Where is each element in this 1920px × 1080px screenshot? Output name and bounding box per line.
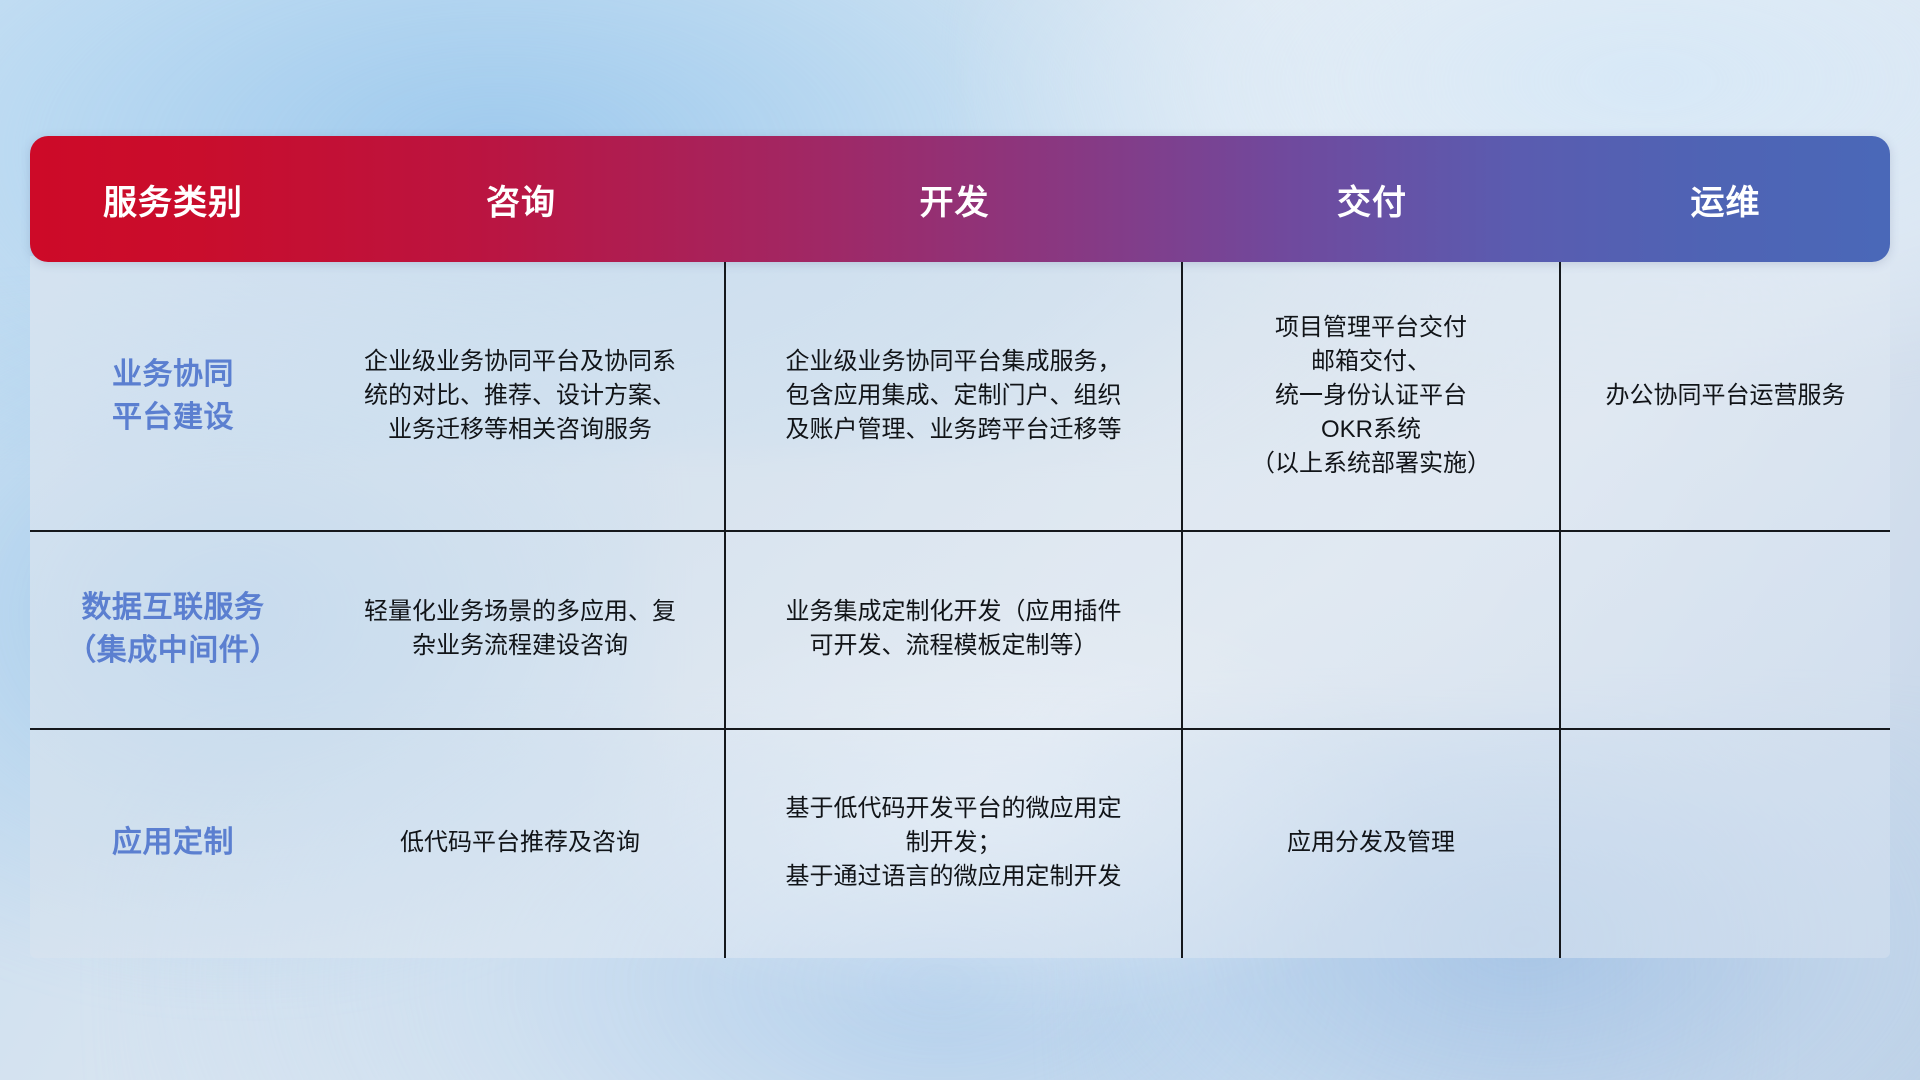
table-row: 业务协同 平台建设 企业级业务协同平台及协同系 统的对比、推荐、设计方案、 业务… [30, 262, 1890, 530]
cell-r3-consulting: 低代码平台推荐及咨询 [316, 728, 726, 958]
column-header-consulting: 咨询 [316, 175, 726, 224]
row-label-app-customization: 应用定制 [30, 728, 316, 958]
cell-r2-operations [1561, 530, 1890, 728]
cell-r1-operations: 办公协同平台运营服务 [1561, 262, 1890, 530]
cell-r1-consulting: 企业级业务协同平台及协同系 统的对比、推荐、设计方案、 业务迁移等相关咨询服务 [316, 262, 726, 530]
cell-r3-operations [1561, 728, 1890, 958]
cell-text: 企业级业务协同平台集成服务， 包含应用集成、定制门户、组织 及账户管理、业务跨平… [786, 345, 1122, 447]
table-header-row: 服务类别 咨询 开发 交付 运维 [30, 136, 1890, 262]
row-label-text: 应用定制 [112, 821, 234, 865]
column-header-development: 开发 [726, 175, 1183, 224]
cell-r2-consulting: 轻量化业务场景的多应用、复 杂业务流程建设咨询 [316, 530, 726, 728]
table-body: 业务协同 平台建设 企业级业务协同平台及协同系 统的对比、推荐、设计方案、 业务… [30, 262, 1890, 958]
table-row: 数据互联服务 （集成中间件） 轻量化业务场景的多应用、复 杂业务流程建设咨询 业… [30, 530, 1890, 728]
cell-text: 业务集成定制化开发（应用插件 可开发、流程模板定制等） [786, 595, 1122, 663]
row-label-text: 数据互联服务 （集成中间件） [66, 586, 280, 673]
row-label-data-interconnect: 数据互联服务 （集成中间件） [30, 530, 316, 728]
service-matrix-table: 服务类别 咨询 开发 交付 运维 业务协同 平台建设 企业级业务协同平台及协同系… [30, 136, 1890, 958]
cell-r3-delivery: 应用分发及管理 [1183, 728, 1561, 958]
cell-text: 项目管理平台交付 邮箱交付、 统一身份认证平台 OKR系统 （以上系统部署实施） [1251, 311, 1491, 481]
cell-text: 办公协同平台运营服务 [1606, 379, 1846, 413]
cell-r1-delivery: 项目管理平台交付 邮箱交付、 统一身份认证平台 OKR系统 （以上系统部署实施） [1183, 262, 1561, 530]
slide-canvas: 服务类别 咨询 开发 交付 运维 业务协同 平台建设 企业级业务协同平台及协同系… [0, 0, 1920, 1080]
cell-text: 低代码平台推荐及咨询 [400, 826, 640, 860]
row-divider [30, 728, 1890, 730]
row-divider [30, 530, 1890, 532]
row-label-text: 业务协同 平台建设 [112, 353, 234, 440]
cell-r2-delivery [1183, 530, 1561, 728]
cell-text: 轻量化业务场景的多应用、复 杂业务流程建设咨询 [364, 595, 676, 663]
cell-r1-development: 企业级业务协同平台集成服务， 包含应用集成、定制门户、组织 及账户管理、业务跨平… [726, 262, 1183, 530]
column-header-service-category: 服务类别 [30, 175, 316, 224]
cell-text: 企业级业务协同平台及协同系 统的对比、推荐、设计方案、 业务迁移等相关咨询服务 [364, 345, 676, 447]
cell-text: 应用分发及管理 [1287, 826, 1455, 860]
column-header-delivery: 交付 [1183, 175, 1561, 224]
cell-r2-development: 业务集成定制化开发（应用插件 可开发、流程模板定制等） [726, 530, 1183, 728]
table-row: 应用定制 低代码平台推荐及咨询 基于低代码开发平台的微应用定 制开发； 基于通过… [30, 728, 1890, 958]
cell-r3-development: 基于低代码开发平台的微应用定 制开发； 基于通过语言的微应用定制开发 [726, 728, 1183, 958]
column-header-operations: 运维 [1561, 175, 1890, 224]
cell-text: 基于低代码开发平台的微应用定 制开发； 基于通过语言的微应用定制开发 [786, 792, 1122, 894]
row-label-business-collaboration: 业务协同 平台建设 [30, 262, 316, 530]
